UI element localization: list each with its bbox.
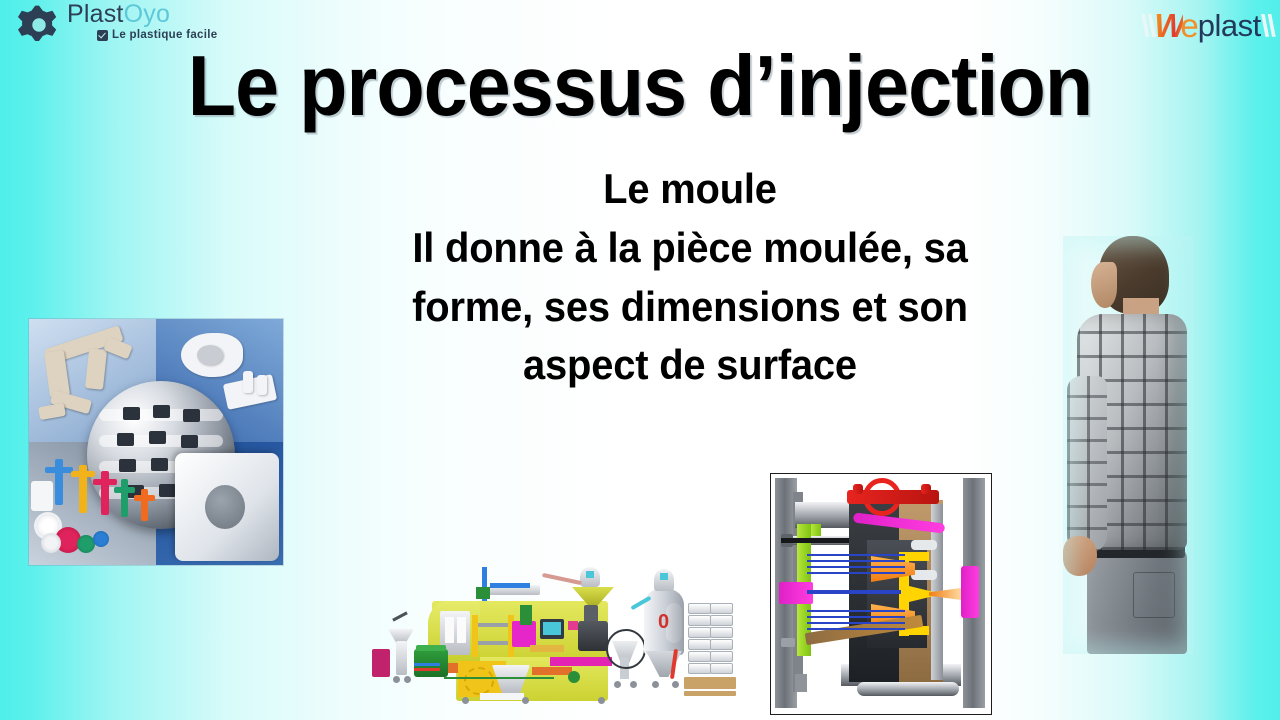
- check-icon: [97, 30, 108, 41]
- body-line-4: aspect de surface: [362, 336, 1018, 395]
- brand-word-plast: plast: [1198, 8, 1261, 44]
- slash-decor-right: \\: [1261, 8, 1274, 44]
- slash-decor-left: \\: [1141, 8, 1154, 44]
- page-title: Le processus d’injection: [45, 44, 1235, 129]
- operator-photo: [1063, 236, 1193, 654]
- brand-logo-weplast[interactable]: \\ W e plast \\: [1141, 6, 1274, 46]
- slide-canvas: PlastOyo Le plastique facile \\ W e plas…: [0, 0, 1280, 720]
- brand-name-part2: Oyo: [124, 0, 170, 28]
- brand-letter-e: e: [1180, 7, 1198, 45]
- body-line-1: Le moule: [362, 160, 1018, 219]
- slide-body-text: Le moule Il donne à la pièce moulée, sa …: [362, 160, 1018, 395]
- pump-housing-part: [175, 453, 279, 561]
- body-line-3: forme, ses dimensions et son: [362, 278, 1018, 337]
- brand-name: PlastOyo: [67, 2, 217, 27]
- molded-parts-collage-image: [29, 319, 283, 565]
- gear-icon: [18, 4, 60, 46]
- body-line-2: Il donne à la pièce moulée, sa: [362, 219, 1018, 278]
- brand-name-part1: Plast: [67, 0, 124, 28]
- injection-molding-machine-image: 0: [372, 545, 714, 710]
- brand-letter-w: W: [1154, 7, 1183, 45]
- mold-cross-section-image: [770, 473, 992, 715]
